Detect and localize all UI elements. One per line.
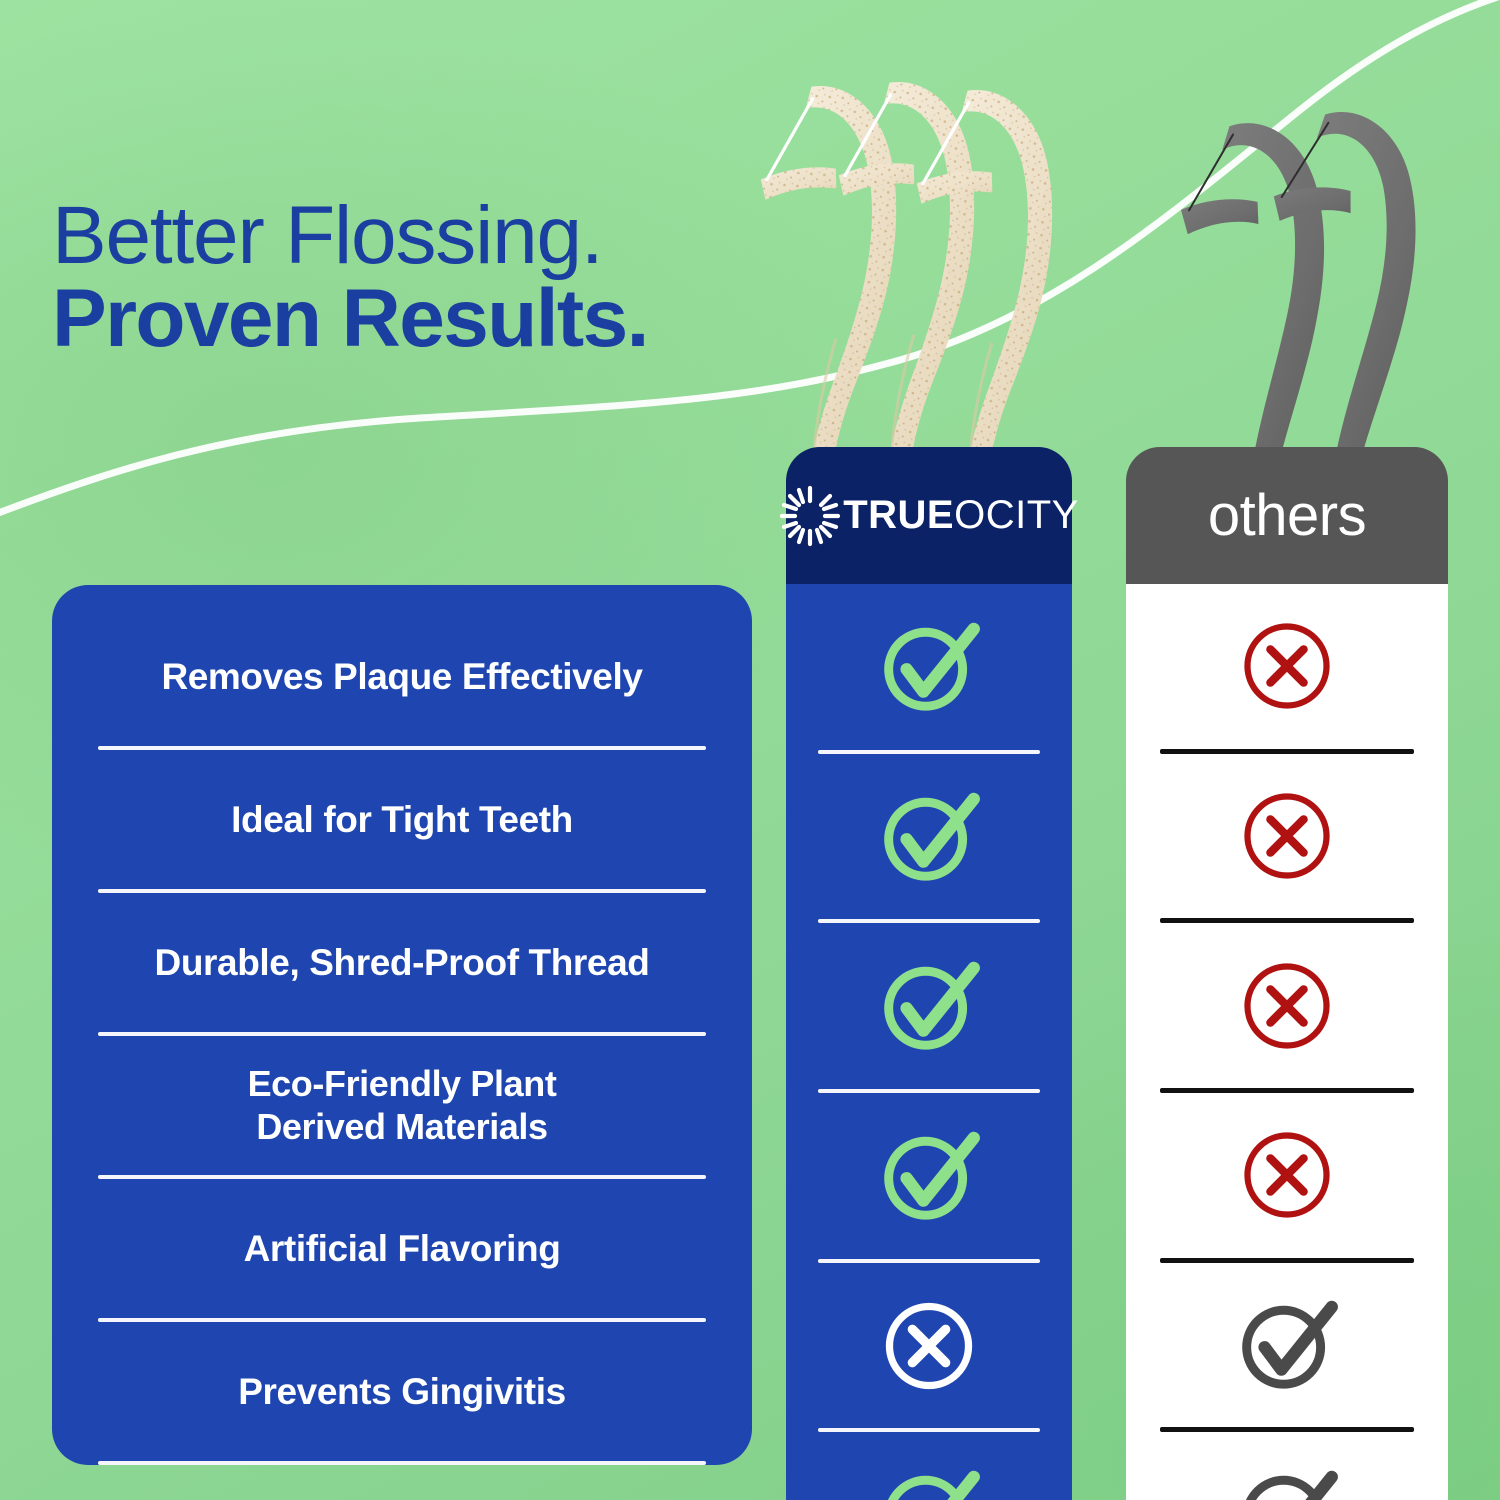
brand-mark-cell: [786, 1432, 1072, 1500]
logo-text-light: OCITY: [954, 493, 1079, 538]
competitor-column-header: others: [1126, 447, 1448, 584]
trueocity-wordmark: TRUEOCITY: [843, 493, 1079, 538]
competitor-mark-cell: [1126, 923, 1448, 1088]
check-circle-icon: [873, 1120, 985, 1232]
feature-label: Ideal for Tight Teeth: [86, 750, 718, 889]
competitor-mark-cell: [1126, 1263, 1448, 1428]
brand-mark-cell: [786, 754, 1072, 920]
trueocity-logo: TRUEOCITY: [779, 485, 1079, 547]
competitor-column-body: [1126, 584, 1448, 1500]
cross-circle-icon: [877, 1294, 981, 1398]
cross-circle-icon: [1235, 954, 1339, 1058]
competitor-mark-cell: [1126, 1432, 1448, 1500]
brand-column-header: TRUEOCITY: [786, 447, 1072, 584]
headline-line-2: Proven Results.: [52, 276, 648, 363]
competitor-comparison-column: others: [1126, 447, 1448, 1500]
brand-mark-cell: [786, 1263, 1072, 1429]
feature-label: Prevents Gingivitis: [86, 1322, 718, 1461]
headline-line-1: Better Flossing.: [52, 196, 648, 276]
feature-label: Eco-Friendly Plant Derived Materials: [86, 1036, 718, 1175]
feature-list-panel: Removes Plaque Effectively Ideal for Tig…: [52, 585, 752, 1465]
brand-column-body: [786, 584, 1072, 1500]
feature-label: Removes Plaque Effectively: [86, 607, 718, 746]
competitor-mark-cell: [1126, 1093, 1448, 1258]
check-circle-icon: [1231, 1289, 1343, 1401]
brand-product-image: [756, 72, 1086, 492]
competitor-product-image: [1158, 92, 1448, 492]
infographic-canvas: Better Flossing. Proven Results.: [0, 0, 1500, 1500]
feature-label: Artificial Flavoring: [86, 1179, 718, 1318]
brand-mark-cell: [786, 1093, 1072, 1259]
cross-circle-icon: [1235, 1123, 1339, 1227]
feature-divider: [98, 1461, 706, 1465]
competitor-column-title: others: [1208, 482, 1366, 549]
sunburst-icon: [779, 485, 841, 547]
check-circle-icon: [873, 611, 985, 723]
competitor-mark-cell: [1126, 754, 1448, 919]
cross-circle-icon: [1235, 614, 1339, 718]
feature-label: Durable, Shred-Proof Thread: [86, 893, 718, 1032]
brand-mark-cell: [786, 584, 1072, 750]
brand-mark-cell: [786, 923, 1072, 1089]
check-circle-icon: [1231, 1459, 1343, 1500]
competitor-mark-cell: [1126, 584, 1448, 749]
check-circle-icon: [873, 1459, 985, 1500]
page-title: Better Flossing. Proven Results.: [52, 196, 648, 363]
check-circle-icon: [873, 950, 985, 1062]
check-circle-icon: [873, 781, 985, 893]
cross-circle-icon: [1235, 784, 1339, 888]
brand-comparison-column: TRUEOCITY: [786, 447, 1072, 1500]
logo-text-bold: TRUE: [843, 493, 954, 538]
